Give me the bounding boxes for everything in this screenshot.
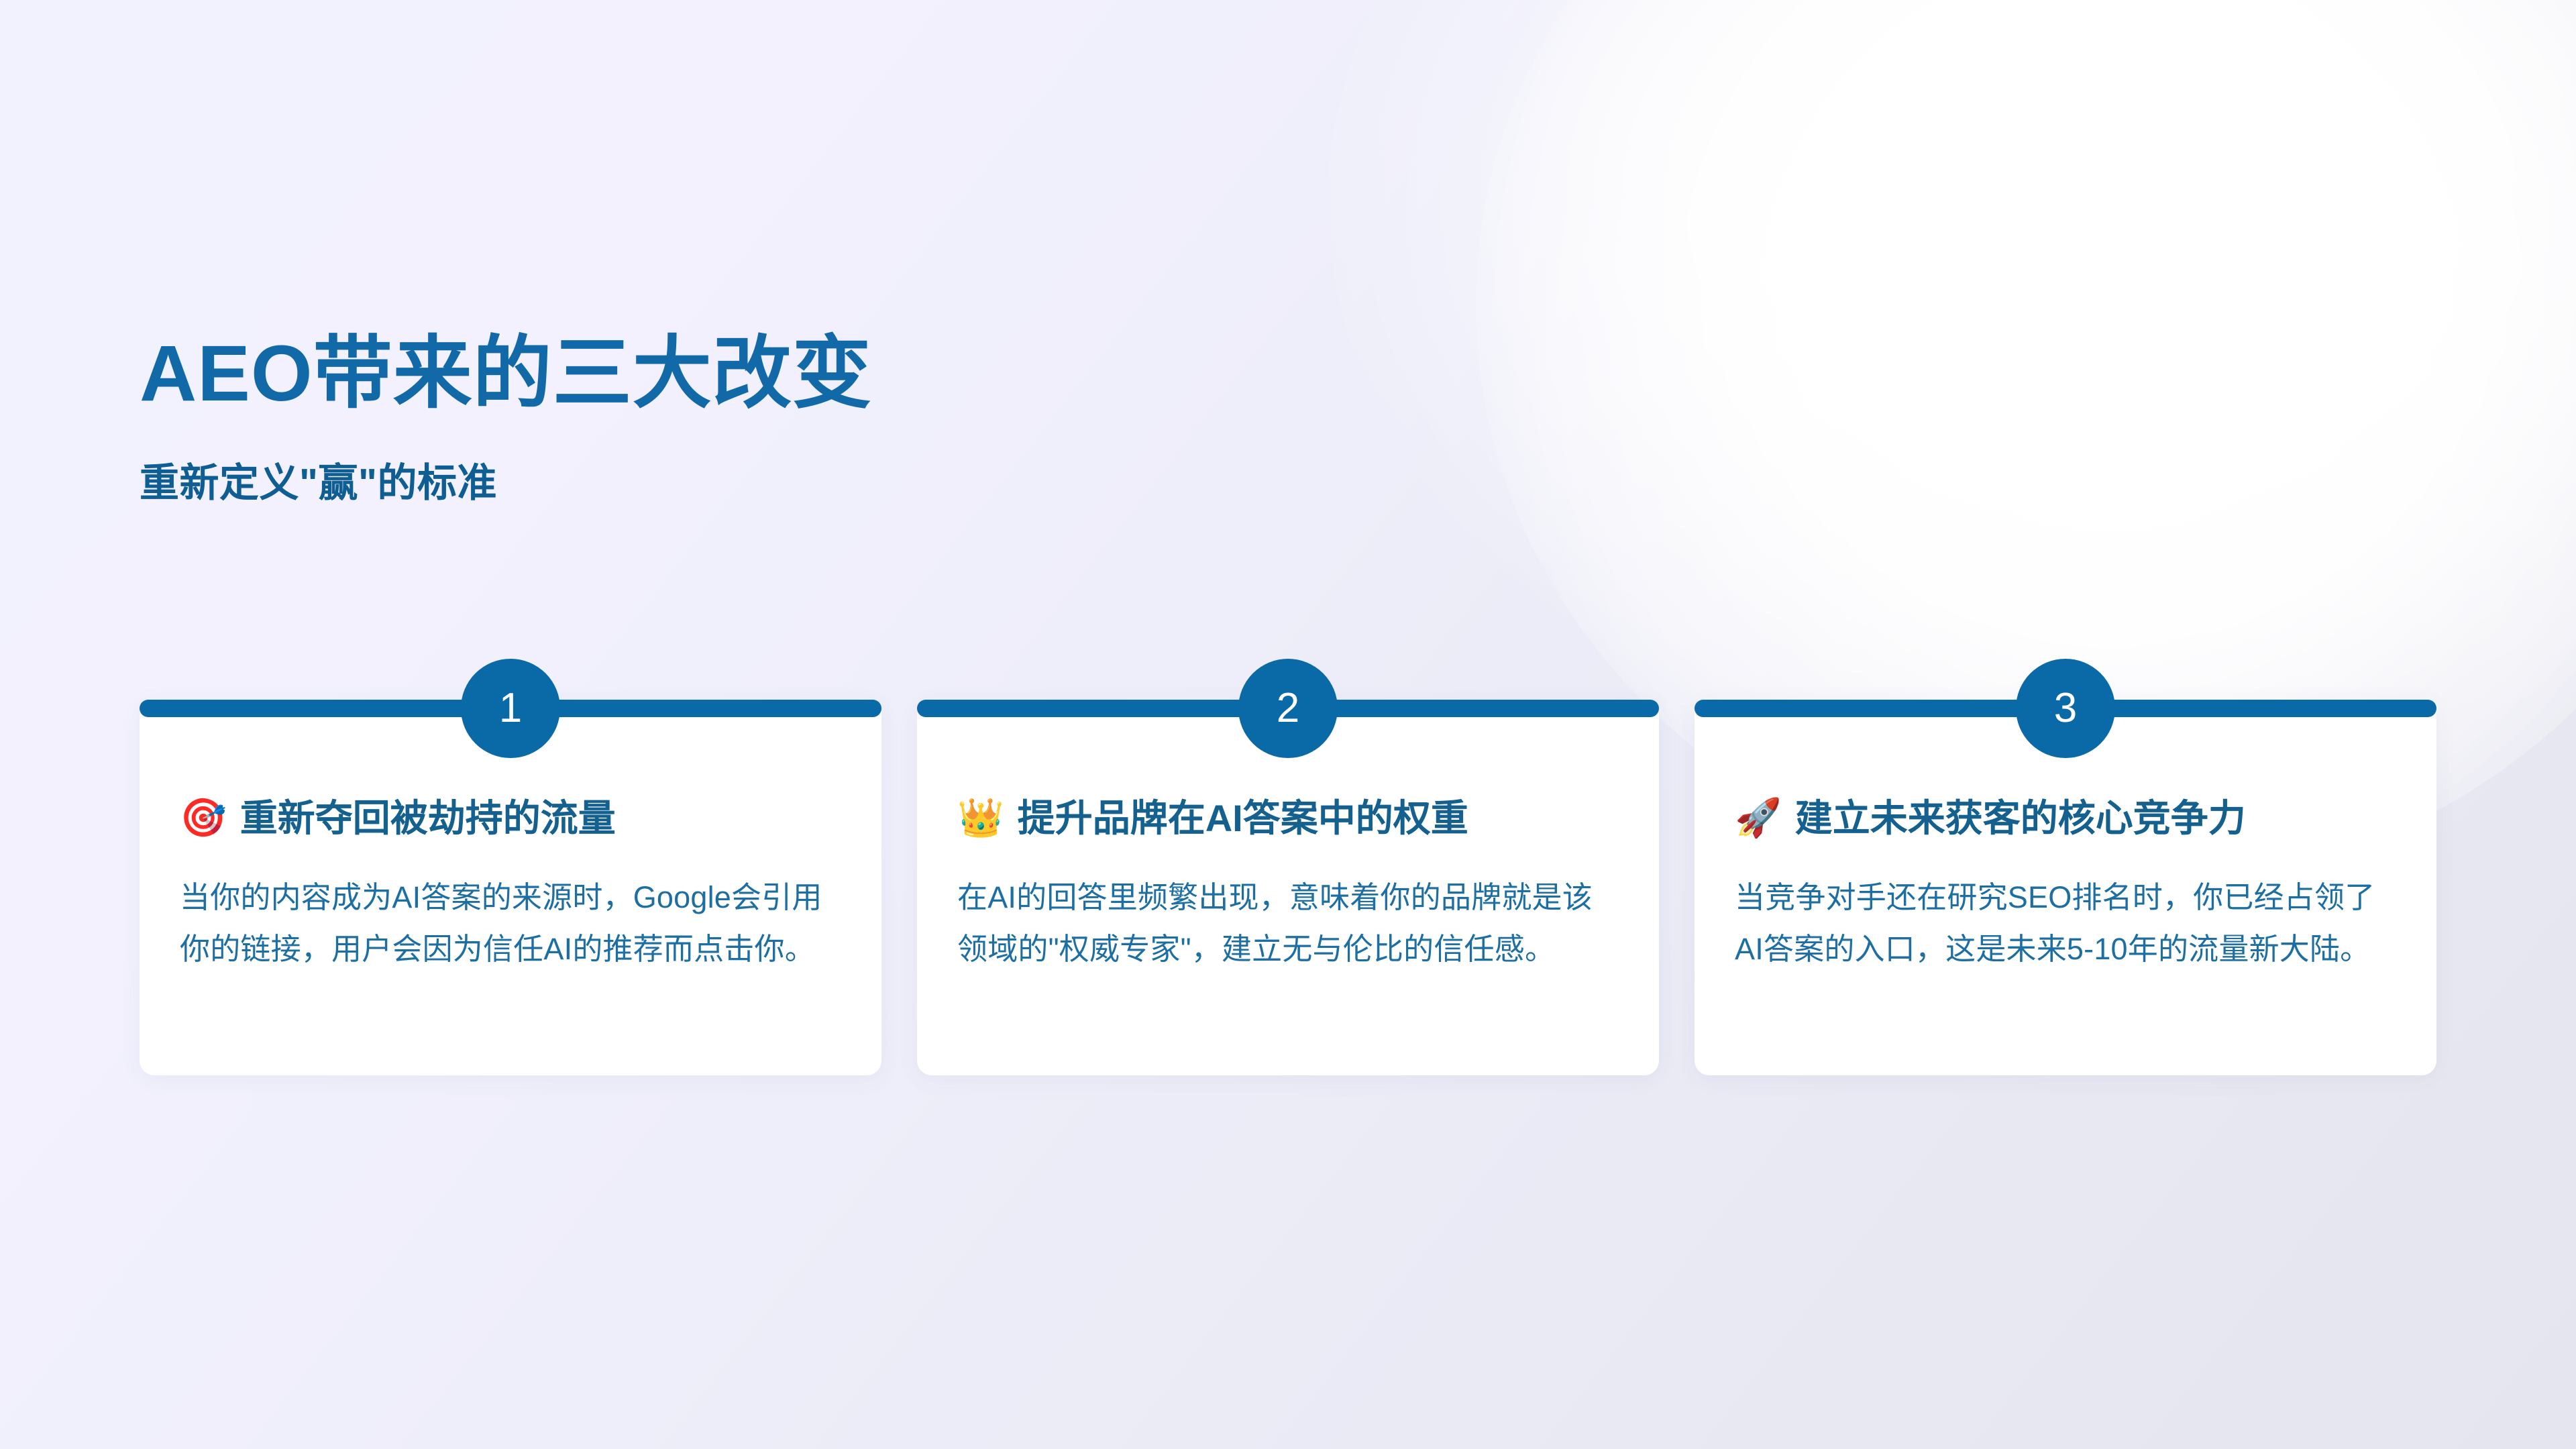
card-body-text: 当你的内容成为AI答案的来源时，Google会引用你的链接，用户会因为信任AI的…: [180, 871, 841, 975]
feature-card: 2 👑 提升品牌在AI答案中的权重 在AI的回答里频繁出现，意味着你的品牌就是该…: [917, 700, 1659, 1075]
slide-header: AEO带来的三大改变 重新定义"赢"的标准: [140, 333, 1884, 507]
feature-card-list: 1 🎯 重新夺回被劫持的流量 当你的内容成为AI答案的来源时，Google会引用…: [140, 700, 2436, 1075]
rocket-icon: 🚀: [1735, 800, 1782, 837]
card-title: 重新夺回被劫持的流量: [240, 798, 616, 839]
card-body-text: 在AI的回答里频繁出现，意味着你的品牌就是该领域的"权威专家"，建立无与伦比的信…: [957, 871, 1619, 975]
page-title: AEO带来的三大改变: [140, 333, 1884, 415]
step-number-badge: 3: [2016, 659, 2115, 758]
step-number-badge: 1: [461, 659, 560, 758]
feature-card: 3 🚀 建立未来获客的核心竞争力 当竞争对手还在研究SEO排名时，你已经占领了A…: [1695, 700, 2436, 1075]
card-header: 🚀 建立未来获客的核心竞争力: [1735, 798, 2396, 839]
slide-canvas: AEO带来的三大改变 重新定义"赢"的标准 1 🎯 重新夺回被劫持的流量 当你的…: [0, 0, 2576, 1449]
page-subtitle: 重新定义"赢"的标准: [140, 415, 1884, 507]
card-title: 提升品牌在AI答案中的权重: [1018, 798, 1468, 839]
crown-icon: 👑: [957, 800, 1004, 837]
feature-card: 1 🎯 重新夺回被劫持的流量 当你的内容成为AI答案的来源时，Google会引用…: [140, 700, 881, 1075]
card-title: 建立未来获客的核心竞争力: [1795, 798, 2246, 839]
card-body-text: 当竞争对手还在研究SEO排名时，你已经占领了AI答案的入口，这是未来5-10年的…: [1735, 871, 2396, 975]
target-icon: 🎯: [180, 800, 227, 837]
card-header: 👑 提升品牌在AI答案中的权重: [957, 798, 1619, 839]
card-header: 🎯 重新夺回被劫持的流量: [180, 798, 841, 839]
step-number-badge: 2: [1238, 659, 1338, 758]
